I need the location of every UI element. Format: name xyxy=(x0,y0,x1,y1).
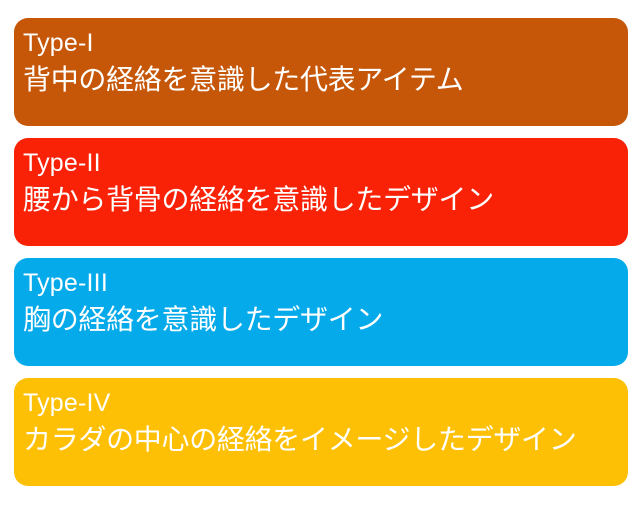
card-description: 腰から背骨の経絡を意識したデザイン xyxy=(23,180,610,220)
card-type-label: Type-II xyxy=(23,147,610,180)
type-card-4[interactable]: Type-IV カラダの中心の経絡をイメージしたデザイン xyxy=(14,378,628,486)
type-card-3[interactable]: Type-III 胸の経絡を意識したデザイン xyxy=(14,258,628,366)
card-description: 背中の経絡を意識した代表アイテム xyxy=(23,60,610,100)
card-description: 胸の経絡を意識したデザイン xyxy=(23,300,610,340)
type-cards-board: Type-I 背中の経絡を意識した代表アイテム Type-II 腰から背骨の経絡… xyxy=(0,0,640,508)
type-card-1[interactable]: Type-I 背中の経絡を意識した代表アイテム xyxy=(14,18,628,126)
card-type-label: Type-III xyxy=(23,267,610,300)
type-card-2[interactable]: Type-II 腰から背骨の経絡を意識したデザイン xyxy=(14,138,628,246)
card-description: カラダの中心の経絡をイメージしたデザイン xyxy=(23,420,610,460)
card-type-label: Type-IV xyxy=(23,387,610,420)
card-type-label: Type-I xyxy=(23,27,610,60)
